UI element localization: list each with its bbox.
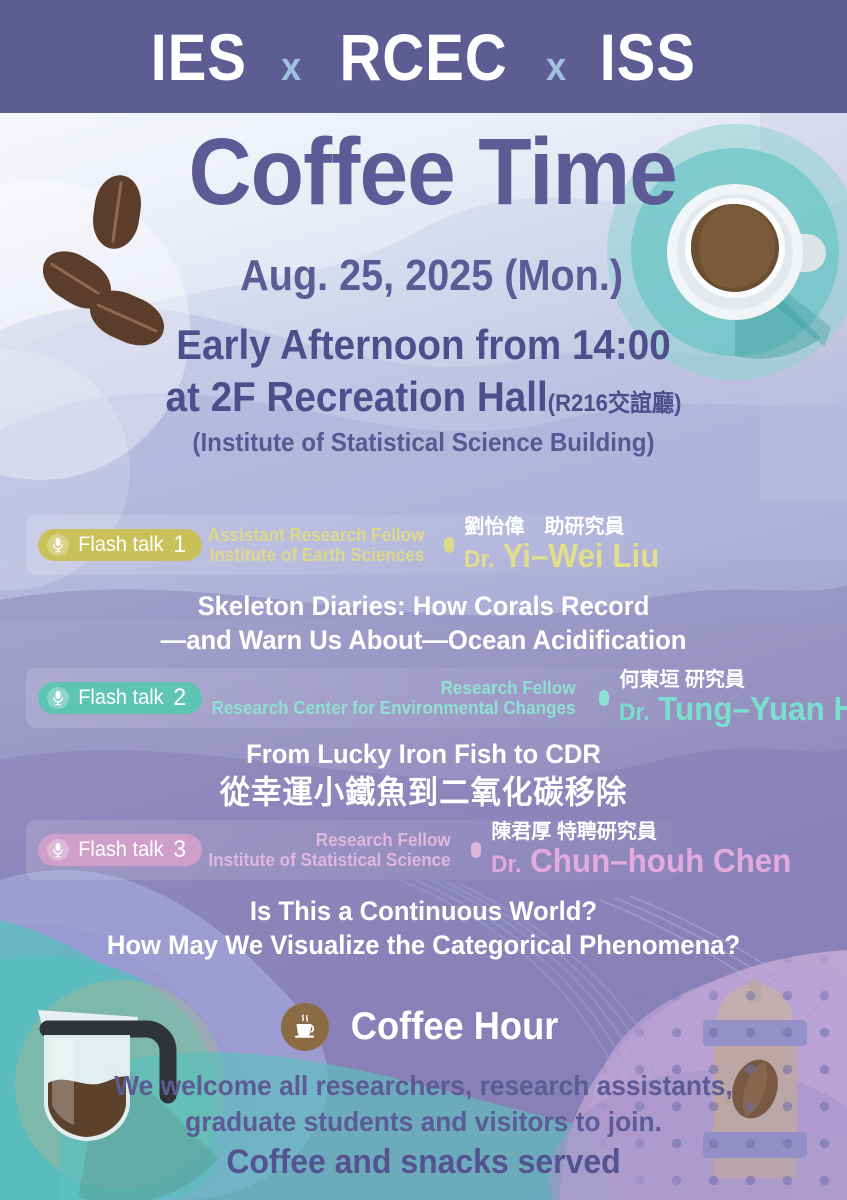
venue-en: at 2F Recreation Hall [166, 373, 548, 420]
badge-label-1: Flash talk [78, 533, 163, 557]
speaker-prefix-3: Dr. [491, 851, 521, 878]
event-venue-building: (Institute of Statistical Science Buildi… [30, 427, 818, 458]
microphone-icon [47, 687, 69, 709]
header-banner: IES x RCEC x ISS [0, 0, 847, 113]
speaker-name-en-3: Dr. Chun–houh Chen [491, 844, 721, 878]
snacks-served-text: Coffee and snacks served [25, 1140, 821, 1184]
affil-line1-2: Research Fellow [212, 678, 576, 698]
talk-title-3: Is This a Continuous World? How May We V… [21, 895, 826, 963]
badge-label-2: Flash talk [78, 686, 163, 710]
talk-title-3-line1: Is This a Continuous World? [21, 895, 826, 929]
bullet-separator-1 [444, 537, 454, 553]
speaker-prefix-1: Dr. [464, 546, 494, 573]
speaker-name-en-1: Dr. Yi–Wei Liu [464, 539, 694, 573]
org-rcec: RCEC [339, 19, 507, 95]
affil-line2-3: Institute of Statistical Science [209, 850, 451, 870]
event-venue: at 2F Recreation Hall(R216交誼廳) [34, 373, 813, 421]
speaker-name-zh-2: 何東垣 研究員 [619, 670, 847, 690]
affiliation-1: Assistant Research Fellow Institute of E… [202, 525, 434, 565]
talk-title-2-line1: From Lucky Iron Fish to CDR [21, 738, 826, 772]
affiliation-2: Research Fellow Research Center for Envi… [202, 678, 589, 718]
badge-number-1: 1 [173, 531, 186, 559]
separator-x-2: x [546, 45, 566, 90]
talk-title-1-line2: —and Warn Us About—Ocean Acidification [21, 624, 826, 658]
coffee-hour-header: Coffee Hour [0, 1003, 847, 1051]
coffee-hour-title: Coffee Hour [351, 1005, 559, 1049]
flash-talk-badge-3: Flash talk 3 [38, 834, 202, 866]
badge-number-3: 3 [173, 836, 186, 864]
welcome-line-2: graduate students and visitors to join. [25, 1104, 821, 1140]
bullet-separator-3 [471, 842, 481, 858]
speaker-prefix-2: Dr. [619, 699, 649, 726]
venue-zh: (R216交誼廳) [548, 390, 682, 417]
microphone-icon [47, 839, 69, 861]
talk-band-1: Flash talk 1 Assistant Research Fellow I… [26, 515, 678, 575]
talk-title-3-line2: How May We Visualize the Categorical Phe… [21, 929, 826, 963]
affiliation-3: Research Fellow Institute of Statistical… [202, 830, 461, 870]
speaker-3: 陳君厚 特聘研究員 Dr. Chun–houh Chen [491, 822, 741, 877]
microphone-icon [47, 534, 69, 556]
talk-band-3: Flash talk 3 Research Fellow Institute o… [26, 820, 678, 880]
talk-title-2: From Lucky Iron Fish to CDR 從幸運小鐵魚到二氧化碳移… [21, 738, 826, 812]
affil-line2-1: Institute of Earth Sciences [208, 545, 425, 565]
speaker-2: 何東垣 研究員 Dr. Tung–Yuan Ho [619, 670, 847, 725]
flash-talk-badge-1: Flash talk 1 [38, 529, 202, 561]
affil-line1-1: Assistant Research Fellow [208, 525, 425, 545]
org-iss: ISS [600, 19, 696, 95]
poster-canvas: IES x RCEC x ISS Coffee Time Aug. 25, 20… [0, 0, 847, 1200]
speaker-name-zh-3: 陳君厚 特聘研究員 [491, 822, 733, 842]
affil-line1-3: Research Fellow [209, 830, 451, 850]
badge-label-3: Flash talk [78, 838, 163, 862]
badge-number-2: 2 [173, 684, 186, 712]
talk-title-2-line2: 從幸運小鐵魚到二氧化碳移除 [21, 772, 826, 812]
page-title: Coffee Time [34, 120, 813, 225]
speaker-1: 劉怡偉 助研究員 Dr. Yi–Wei Liu [464, 517, 714, 572]
bullet-separator-2 [599, 690, 609, 706]
talk-title-1: Skeleton Diaries: How Corals Record —and… [21, 590, 826, 658]
title-block: Coffee Time Aug. 25, 2025 (Mon.) Early A… [0, 120, 847, 458]
event-time: Early Afternoon from 14:00 [34, 321, 813, 369]
separator-x-1: x [281, 45, 301, 90]
coffee-cup-icon [281, 1003, 329, 1051]
talk-title-1-line1: Skeleton Diaries: How Corals Record [21, 590, 826, 624]
speaker-name-en-2: Dr. Tung–Yuan Ho [619, 692, 847, 726]
speaker-en-name-3: Chun–houh Chen [530, 842, 791, 879]
welcome-line-1: We welcome all researchers, research ass… [25, 1068, 821, 1104]
welcome-message: We welcome all researchers, research ass… [25, 1068, 821, 1141]
speaker-en-name-1: Yi–Wei Liu [503, 537, 660, 574]
flash-talk-badge-2: Flash talk 2 [38, 682, 202, 714]
org-ies: IES [151, 19, 247, 95]
affil-line2-2: Research Center for Environmental Change… [212, 698, 576, 718]
event-date: Aug. 25, 2025 (Mon.) [42, 251, 804, 301]
speaker-en-name-2: Tung–Yuan Ho [658, 690, 847, 727]
speaker-name-zh-1: 劉怡偉 助研究員 [464, 517, 706, 537]
talk-band-2: Flash talk 2 Research Fellow Research Ce… [26, 668, 678, 728]
